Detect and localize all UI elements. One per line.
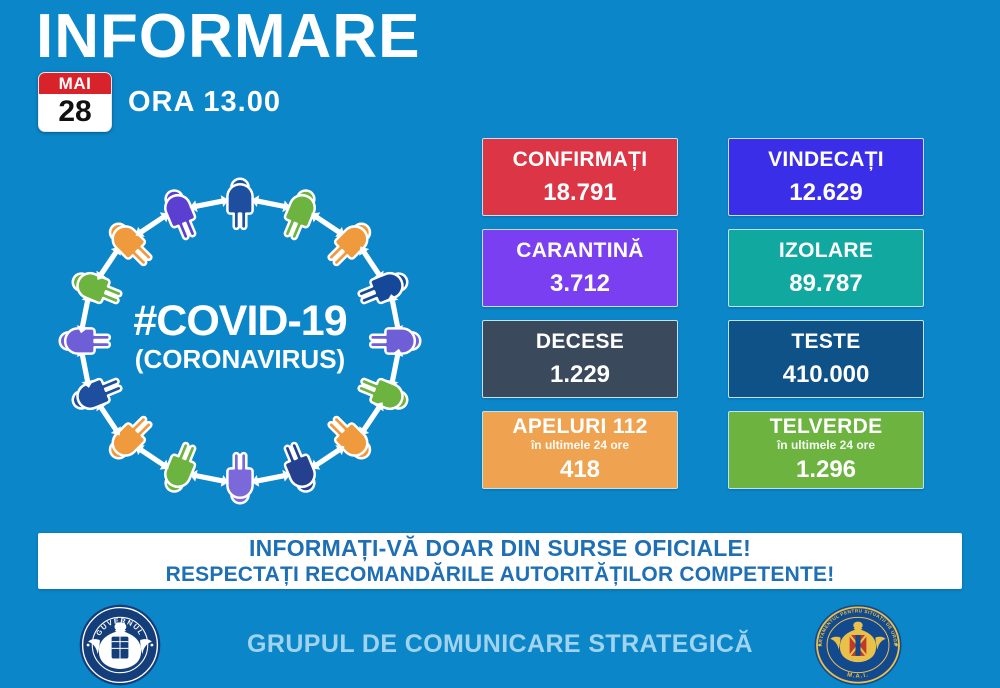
infographic-root: INFORMARE MAI 28 ORA 13.00 #COVID-19 (CO… — [0, 0, 1000, 688]
person-figure — [278, 440, 320, 496]
page-title: INFORMARE — [36, 4, 420, 69]
person-figure — [60, 328, 110, 353]
stat-label: CONFIRMAȚI — [513, 149, 648, 171]
person-figure — [159, 186, 201, 242]
stat-decese: DECESE1.229 — [482, 320, 678, 398]
distance-arrow-icon — [250, 194, 292, 214]
stat-value: 89.787 — [789, 271, 862, 296]
person-figure — [370, 328, 420, 353]
stat-value: 18.791 — [543, 180, 616, 205]
stat-telverde: TELVERDEîn ultimele 24 ore1.296 — [728, 411, 924, 489]
stat-confirmati: CONFIRMAȚI18.791 — [482, 138, 678, 216]
guvernul-romaniei-seal-icon: GUVERNUL ROMÂNIEI — [78, 603, 162, 687]
stat-label: VINDECAȚI — [768, 149, 884, 171]
date-bar: MAI 28 ORA 13.00 — [38, 72, 281, 132]
dsu-mai-emblem-icon: DEPARTAMENTUL PENTRU SITUAȚII DE URGENȚĂ… — [812, 603, 904, 687]
advisory-banner: INFORMAȚI-VĂ DOAR DIN SURSE OFICIALE! RE… — [38, 533, 962, 589]
stat-vindecati: VINDECAȚI12.629 — [728, 138, 924, 216]
stat-label: CARANTINĂ — [516, 240, 644, 262]
social-distancing-circle-icon: #COVID-19 (CORONAVIRUS) — [30, 160, 450, 522]
stat-sublabel: în ultimele 24 ore — [777, 439, 875, 452]
stat-apeluri-112: APELURI 112în ultimele 24 ore418 — [482, 411, 678, 489]
advisory-line-2: RESPECTAȚI RECOMANDĂRILE AUTORITĂȚILOR C… — [166, 563, 835, 586]
distance-arrow-icon — [188, 194, 230, 214]
stat-value: 12.629 — [789, 180, 862, 205]
stat-label: APELURI 112 — [512, 416, 647, 438]
person-figure — [69, 267, 125, 309]
person-figure — [227, 453, 252, 503]
distance-arrow-icon — [188, 468, 230, 488]
person-figure — [355, 372, 411, 414]
calendar-month: MAI — [39, 73, 111, 94]
stat-value: 418 — [560, 457, 600, 482]
stat-label: DECESE — [536, 331, 624, 353]
stat-value: 1.296 — [796, 457, 856, 482]
person-figure — [69, 372, 125, 414]
stat-label: TELVERDE — [770, 416, 883, 438]
stat-value: 1.229 — [550, 362, 610, 387]
footer: GRUPUL DE COMUNICARE STRATEGICĂ GUVERNUL… — [0, 600, 1000, 688]
calendar-icon: MAI 28 — [38, 72, 112, 132]
stat-value: 410.000 — [783, 362, 870, 387]
stats-grid: CONFIRMAȚI18.791VINDECAȚI12.629CARANTINĂ… — [482, 138, 924, 489]
distance-arrow-icon — [250, 469, 292, 489]
stat-izolare: IZOLARE89.787 — [728, 229, 924, 307]
hour-label: ORA 13.00 — [128, 86, 281, 119]
stat-carantina: CARANTINĂ3.712 — [482, 229, 678, 307]
calendar-day: 28 — [39, 94, 111, 131]
advisory-line-1: INFORMAȚI-VĂ DOAR DIN SURSE OFICIALE! — [249, 536, 751, 561]
person-figure — [227, 179, 252, 229]
stat-value: 3.712 — [550, 271, 610, 296]
stat-sublabel: în ultimele 24 ore — [531, 439, 629, 452]
stat-teste: TESTE410.000 — [728, 320, 924, 398]
stat-label: IZOLARE — [779, 240, 873, 262]
person-figure — [355, 267, 411, 309]
stat-label: TESTE — [791, 331, 860, 353]
